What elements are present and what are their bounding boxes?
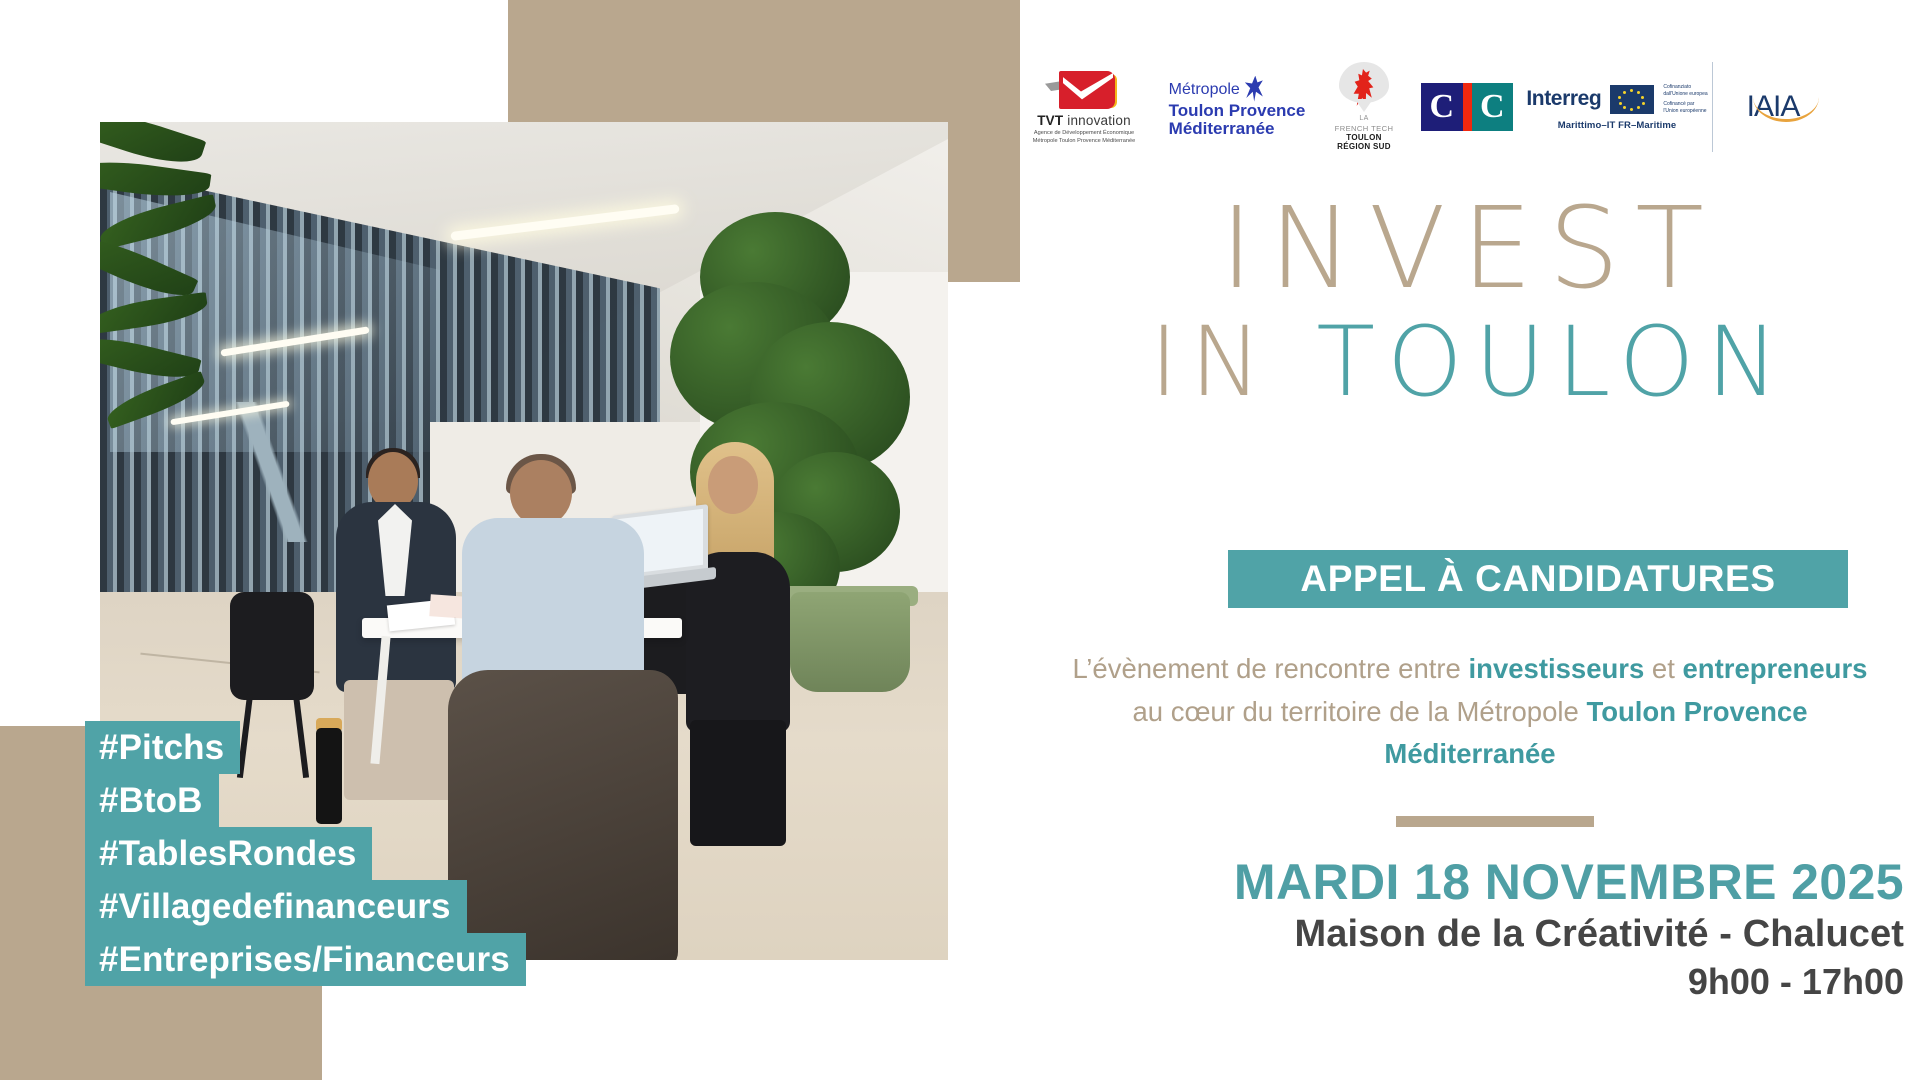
logo-interreg: Interreg bbox=[1522, 62, 1712, 152]
hashtag-item: #BtoB bbox=[85, 774, 219, 827]
hashtag-item: #Pitchs bbox=[85, 721, 240, 774]
event-venue: Maison de la Créativité - Chalucet bbox=[1020, 910, 1904, 959]
french-tech-pin-icon bbox=[1339, 62, 1389, 103]
banner-label: APPEL À CANDIDATURES bbox=[1300, 558, 1775, 600]
hashtag-item: #TablesRondes bbox=[85, 827, 372, 880]
logo-metropole-tpm: Métropole Toulon Provence Méditerranée bbox=[1148, 62, 1316, 152]
right-content-column: TVT innovation Agence de Développement É… bbox=[1020, 0, 1920, 1080]
photo-plant-pot bbox=[790, 592, 910, 692]
poster-canvas: #Pitchs #BtoB #TablesRondes #Villagedefi… bbox=[0, 0, 1920, 1080]
event-date: MARDI 18 NOVEMBRE 2025 bbox=[1020, 854, 1904, 910]
french-tech-line2: FRENCH TECH bbox=[1335, 124, 1394, 133]
title-in: IN bbox=[1150, 306, 1274, 418]
partner-logo-row: TVT innovation Agence de Développement É… bbox=[1020, 62, 1920, 152]
interreg-wordmark: Interreg bbox=[1526, 87, 1601, 111]
logo-tvt-innovation: TVT innovation Agence de Développement É… bbox=[1020, 62, 1148, 152]
poster-title: INVEST IN TOULON bbox=[1020, 196, 1920, 413]
desc-highlight-entrepreneurs: entrepreneurs bbox=[1683, 653, 1868, 684]
event-details: MARDI 18 NOVEMBRE 2025 Maison de la Créa… bbox=[1020, 854, 1904, 1004]
title-toulon: TOULON bbox=[1316, 306, 1790, 418]
cic-right-letter: C bbox=[1472, 83, 1514, 131]
photo-chair-left bbox=[230, 592, 314, 700]
rooster-icon bbox=[1351, 69, 1377, 109]
cic-left-letter: C bbox=[1421, 83, 1463, 131]
title-in-toulon: IN TOULON bbox=[1020, 312, 1920, 413]
tvt-logo-icon bbox=[1047, 69, 1121, 111]
tvt-logo-name: TVT innovation bbox=[1037, 113, 1131, 128]
photo-plant-left bbox=[100, 122, 310, 442]
event-hours: 9h00 - 17h00 bbox=[1020, 959, 1904, 1004]
logo-iaia: IAIA bbox=[1712, 62, 1833, 152]
event-description: L’évènement de rencontre entre investiss… bbox=[1056, 648, 1884, 776]
metropole-star-icon bbox=[1245, 76, 1263, 102]
desc-highlight-investisseurs: investisseurs bbox=[1469, 653, 1645, 684]
cic-red-bar bbox=[1463, 83, 1472, 131]
logo-cic: C C bbox=[1412, 62, 1522, 152]
eu-flag-icon bbox=[1610, 85, 1654, 114]
french-tech-line4: RÉGION SUD bbox=[1335, 142, 1394, 152]
french-tech-line3: TOULON bbox=[1335, 133, 1394, 143]
title-invest: INVEST bbox=[1020, 196, 1920, 302]
eu-funding-note: Cofinanziato dall'Unione europea Cofinan… bbox=[1663, 84, 1707, 115]
hashtag-item: #Entreprises/Financeurs bbox=[85, 933, 526, 986]
hashtag-item: #Villagedefinanceurs bbox=[85, 880, 467, 933]
tvt-logo-tagline: Agence de Développement Économique Métro… bbox=[1033, 130, 1136, 145]
logo-french-tech: LA FRENCH TECH TOULON RÉGION SUD bbox=[1316, 62, 1412, 152]
hashtag-list: #Pitchs #BtoB #TablesRondes #Villagedefi… bbox=[85, 721, 526, 986]
interreg-programme-name: Marittimo–IT FR–Maritime bbox=[1558, 120, 1677, 131]
call-for-applications-banner: APPEL À CANDIDATURES bbox=[1228, 550, 1848, 608]
french-tech-line1: LA bbox=[1335, 115, 1394, 123]
tan-divider-rule bbox=[1396, 816, 1594, 827]
